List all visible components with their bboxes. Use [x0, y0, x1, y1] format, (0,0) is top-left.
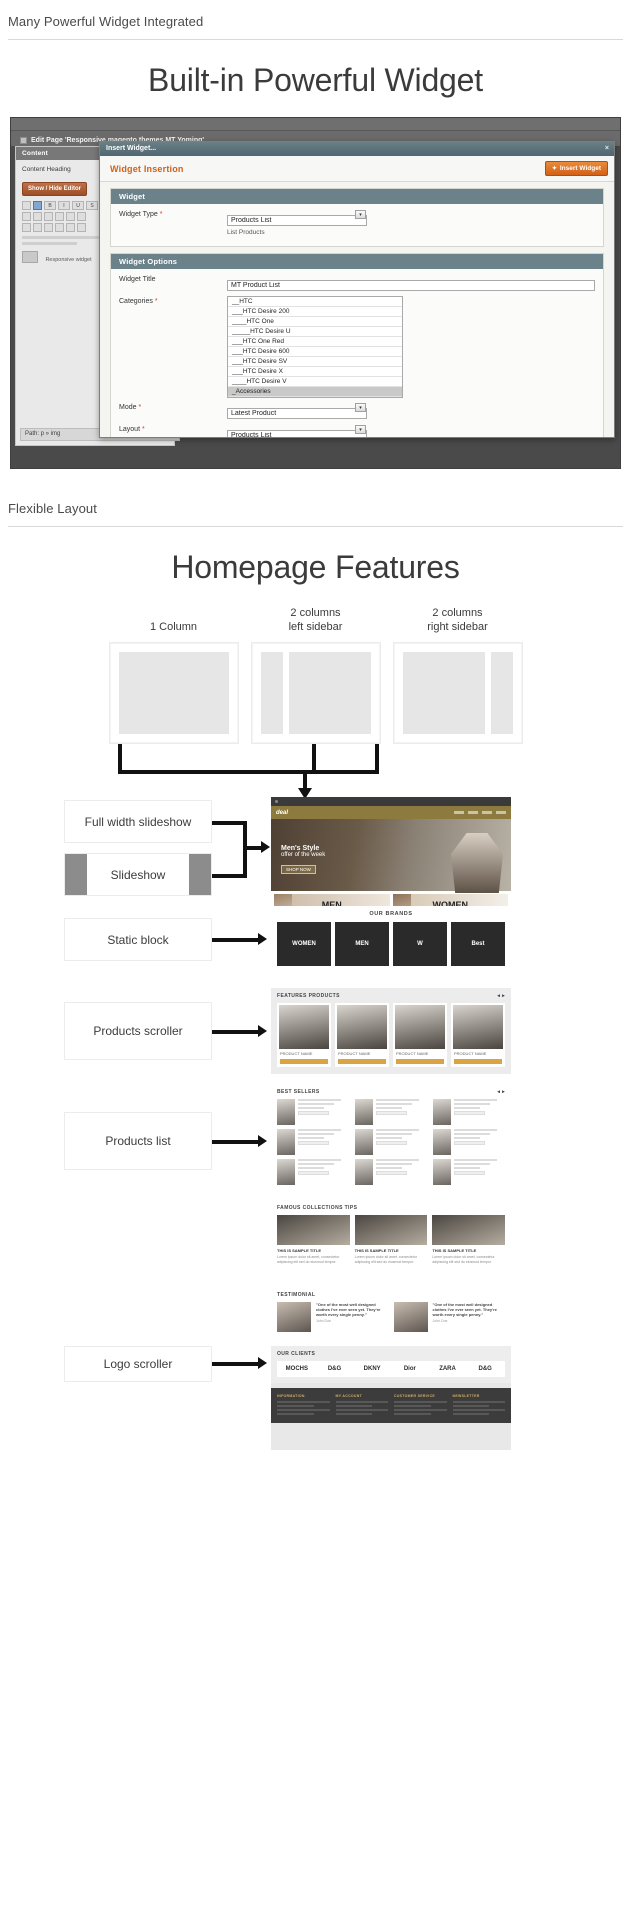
testimonial-block: TESTIMONIAL "One of the most well design…: [271, 1288, 511, 1338]
mode-value[interactable]: [227, 408, 367, 419]
layout-connector: [0, 744, 631, 800]
text-line: [376, 1099, 419, 1101]
anchor-icon[interactable]: [44, 223, 53, 232]
label-text: Mode: [119, 404, 137, 411]
field-control: __HTC ___HTC Desire 200 ____HTC One ____…: [227, 296, 595, 398]
connector-line-horizontal: [118, 770, 379, 774]
section-title-layout: Homepage Features: [0, 527, 631, 604]
layout-thumb-one-column: [109, 642, 239, 744]
collections-block: FAMOUS COLLECTIONS TIPS THIS IS SAMPLE T…: [271, 1200, 511, 1270]
feature-mapping-diagram: Full width slideshow Slideshow: [0, 800, 631, 1510]
chevron-down-icon[interactable]: ▾: [355, 425, 366, 434]
preview-footer: INFORMATION MY ACCOUNT: [271, 1388, 511, 1450]
client-logo[interactable]: Dior: [393, 1366, 427, 1372]
avatar: [394, 1302, 428, 1332]
mode-select[interactable]: ▾: [227, 402, 367, 420]
table-icon[interactable]: [55, 223, 64, 232]
widget-type-note: List Products: [227, 229, 595, 236]
product-card[interactable]: PRODUCT NAME: [277, 1003, 331, 1067]
feature-box-static-block[interactable]: Static block: [64, 918, 212, 961]
form-row-widget-title: Widget Title: [119, 274, 595, 292]
feature-box-logo-scroller[interactable]: Logo scroller: [64, 1346, 212, 1382]
client-logo[interactable]: DKNY: [355, 1366, 389, 1372]
footer-link[interactable]: [277, 1409, 330, 1411]
collections-heading: FAMOUS COLLECTIONS TIPS: [277, 1205, 505, 1215]
client-logo[interactable]: MOCHS: [280, 1366, 314, 1372]
feature-label: Full width slideshow: [85, 815, 192, 829]
footer-link[interactable]: [453, 1401, 506, 1403]
label-text: Widget Type: [119, 211, 158, 218]
section-layout: Flexible Layout Homepage Features 1 Colu…: [0, 487, 631, 1518]
required-marker: *: [155, 298, 158, 305]
footer-link[interactable]: [277, 1401, 330, 1403]
editor-caption: Responsive widget: [45, 257, 91, 263]
product-thumb: [433, 1099, 451, 1125]
footer-link[interactable]: [336, 1413, 373, 1415]
text-line: [298, 1159, 341, 1161]
footer-link[interactable]: [336, 1409, 389, 1411]
cart-button[interactable]: [454, 1141, 485, 1145]
fieldset-widget-options: Widget Options Widget Title: [110, 253, 604, 437]
product-info: [376, 1129, 427, 1155]
best-sellers-header: BEST SELLERS ◂ ▸: [277, 1089, 505, 1099]
best-sellers-block: BEST SELLERS ◂ ▸: [271, 1084, 511, 1193]
product-image: [337, 1005, 387, 1049]
field-control: ▾ List Products: [227, 209, 595, 236]
layout-select[interactable]: ▾: [227, 424, 367, 437]
label-text: Layout: [119, 426, 140, 433]
cart-button[interactable]: [454, 1111, 485, 1115]
layout-option-one-column[interactable]: 1 Column: [109, 604, 239, 744]
unlink-icon[interactable]: [33, 223, 42, 232]
collection-image: [355, 1215, 428, 1245]
text-line: [298, 1167, 324, 1169]
arrow-right-icon: [258, 933, 267, 945]
category-option[interactable]: __HTC: [228, 297, 402, 307]
section-header-layout: Flexible Layout: [0, 487, 631, 526]
list-item[interactable]: [433, 1159, 505, 1185]
content-block: [403, 652, 485, 734]
best-sellers-nav[interactable]: ◂ ▸: [497, 1089, 505, 1095]
footer-link[interactable]: [336, 1401, 389, 1403]
layout-caption: 2 columns left sidebar: [251, 604, 381, 634]
chevron-down-icon[interactable]: ▾: [355, 210, 366, 219]
collection-text: Lorem ipsum dolor sit amet, consectetur …: [355, 1255, 428, 1264]
text-line: [298, 1099, 341, 1101]
footer-link[interactable]: [277, 1413, 314, 1415]
footer-link[interactable]: [394, 1401, 447, 1403]
footer-column: INFORMATION: [277, 1394, 330, 1417]
preview-hero-slide: Men's Style offer of the week SHOP NOW: [271, 819, 511, 891]
cart-button[interactable]: [298, 1141, 329, 1145]
category-option[interactable]: _____HTC Desire U: [228, 327, 402, 337]
product-thumb: [277, 1099, 295, 1125]
align-left-icon[interactable]: [22, 212, 31, 221]
brand-card[interactable]: W: [393, 922, 447, 966]
text-line: [298, 1107, 324, 1109]
link-line: [212, 1030, 260, 1034]
collection-title: THIS IS SAMPLE TITLE: [355, 1248, 428, 1253]
product-thumb: [355, 1159, 373, 1185]
editor-text-line: [22, 236, 110, 239]
text-line: [376, 1163, 412, 1165]
text-line: [454, 1103, 490, 1105]
cart-button[interactable]: [376, 1141, 407, 1145]
close-icon[interactable]: ×: [605, 145, 609, 152]
cut-icon[interactable]: [22, 201, 31, 210]
feature-box-products-list[interactable]: Products list: [64, 1112, 212, 1170]
product-thumb: [277, 1129, 295, 1155]
testimonial-quote-wrap: "One of the most well designed clothes I…: [316, 1302, 389, 1323]
hero-subtitle: offer of the week: [281, 852, 325, 858]
modal-titlebar: Insert Widget... ×: [100, 142, 614, 156]
preview-brands: OUR BRANDS WOMEN MEN W: [271, 906, 511, 978]
link-icon[interactable]: [22, 223, 31, 232]
text-line: [376, 1159, 419, 1161]
collection-title: THIS IS SAMPLE TITLE: [432, 1248, 505, 1253]
collection-text: Lorem ipsum dolor sit amet, consectetur …: [432, 1255, 505, 1264]
list-item[interactable]: [277, 1099, 349, 1125]
text-line: [454, 1163, 490, 1165]
footer-link[interactable]: [277, 1405, 314, 1407]
insert-widget-button[interactable]: ✦ Insert Widget: [545, 161, 608, 176]
connector-line-down: [303, 770, 307, 790]
insert-icon: ✦: [552, 165, 557, 172]
align-justify-icon[interactable]: [55, 212, 64, 221]
fieldset-body: Widget Title Categories *: [111, 269, 603, 437]
testimonial-author: John Doe: [433, 1319, 506, 1323]
preview-hero: · deal: [271, 797, 511, 915]
client-logo[interactable]: D&G: [468, 1366, 502, 1372]
sidebar-shade-right: [189, 854, 211, 895]
feature-label: Products list: [65, 1134, 211, 1148]
list-item[interactable]: [277, 1129, 349, 1155]
layout-caption: 1 Column: [109, 604, 239, 634]
hero-cta-button[interactable]: SHOP NOW: [281, 865, 316, 874]
collection-text: Lorem ipsum dolor sit amet, consectetur …: [277, 1255, 350, 1264]
layout-caption-line2: left sidebar: [251, 620, 381, 634]
fieldset-body: Widget Type * ▾ List Products: [111, 204, 603, 246]
preview-logo: deal: [276, 810, 288, 816]
link-line: [212, 938, 260, 942]
avatar: [277, 1302, 311, 1332]
modal-heading: Widget Insertion: [110, 164, 184, 174]
product-info: [376, 1159, 427, 1185]
widget-type-select[interactable]: ▾: [227, 209, 367, 227]
category-option-selected[interactable]: _Accessories: [228, 387, 402, 397]
sidebar-shade-left: [65, 854, 87, 895]
preview-featured-products: FEATURES PRODUCTS ◂ ▸ PRODUCT NAME: [271, 988, 511, 1074]
cart-button[interactable]: [454, 1171, 485, 1175]
bold-icon[interactable]: B: [44, 201, 56, 210]
footer-link[interactable]: [394, 1405, 431, 1407]
product-name: PRODUCT NAME: [453, 1049, 503, 1057]
widget-placeholder-icon: [22, 251, 38, 263]
preview-testimonial: TESTIMONIAL "One of the most well design…: [271, 1288, 511, 1344]
category-option[interactable]: ___HTC One Red: [228, 337, 402, 347]
field-control: ▾: [227, 424, 595, 437]
insert-widget-label: Insert Widget: [560, 165, 601, 172]
brand-card[interactable]: MEN: [335, 922, 389, 966]
feature-label: Slideshow: [111, 868, 166, 882]
feature-box-full-width-slideshow[interactable]: Full width slideshow: [64, 800, 212, 843]
page-root: Many Powerful Widget Integrated Built-in…: [0, 0, 631, 1518]
preview-header: deal: [271, 806, 511, 819]
product-thumb: [433, 1129, 451, 1155]
collection-card[interactable]: THIS IS SAMPLE TITLE Lorem ipsum dolor s…: [277, 1215, 350, 1264]
label-text: Categories: [119, 298, 153, 305]
best-sellers-grid: [277, 1099, 505, 1185]
chevron-down-icon[interactable]: ▾: [355, 403, 366, 412]
testimonial-quote: "One of the most well designed clothes I…: [433, 1302, 506, 1317]
section-widgets: Many Powerful Widget Integrated Built-in…: [0, 0, 631, 469]
category-option[interactable]: ____HTC One: [228, 317, 402, 327]
sidebar-block: [491, 652, 513, 734]
layout-caption-line1: 2 columns: [251, 606, 381, 620]
product-name: PRODUCT NAME: [279, 1049, 329, 1057]
hero-model-image: [451, 833, 503, 893]
collections-row: THIS IS SAMPLE TITLE Lorem ipsum dolor s…: [277, 1215, 505, 1264]
product-image: [395, 1005, 445, 1049]
client-logo[interactable]: ZARA: [431, 1366, 465, 1372]
category-option[interactable]: ___HTC Desire SV: [228, 357, 402, 367]
preview-nav: [454, 811, 506, 814]
field-label: Layout *: [119, 424, 227, 433]
form-row-widget-type: Widget Type * ▾ List Products: [119, 209, 595, 236]
widget-title-input[interactable]: [227, 280, 595, 291]
hero-title: Men's Style: [281, 845, 325, 852]
image-icon[interactable]: [33, 201, 42, 210]
strikethrough-icon[interactable]: S: [86, 201, 98, 210]
link-line: [212, 821, 247, 825]
modal-title: Insert Widget...: [106, 145, 156, 152]
fieldset-legend: Widget: [111, 189, 603, 204]
cart-button[interactable]: [298, 1111, 329, 1115]
layout-value[interactable]: [227, 430, 367, 437]
text-line: [454, 1129, 497, 1131]
sidebar-block: [261, 652, 283, 734]
text-line: [376, 1137, 402, 1139]
feature-label: Logo scroller: [65, 1357, 211, 1371]
footer-column-title: CUSTOMER SERVICE: [394, 1394, 447, 1398]
insert-widget-modal: Insert Widget... × Widget Insertion ✦ In…: [99, 141, 615, 438]
feature-row-slideshow: Full width slideshow Slideshow: [8, 800, 623, 900]
field-control: [227, 274, 595, 292]
content-block: [119, 652, 229, 734]
list-item[interactable]: [433, 1099, 505, 1125]
add-to-cart-button[interactable]: [280, 1059, 328, 1064]
underline-icon[interactable]: U: [72, 201, 84, 210]
cart-button[interactable]: [298, 1171, 329, 1175]
preview-collections: FAMOUS COLLECTIONS TIPS THIS IS SAMPLE T…: [271, 1200, 511, 1286]
feature-row-products-list: Products list BEST SELLERS ◂ ▸: [8, 1084, 623, 1194]
layout-caption-text: 1 Column: [109, 620, 239, 634]
product-thumb: [277, 1159, 295, 1185]
brands-block: OUR BRANDS WOMEN MEN W: [271, 906, 511, 974]
product-info: [298, 1159, 349, 1185]
list-item[interactable]: [433, 1129, 505, 1155]
category-option[interactable]: ___HTC Desire X: [228, 367, 402, 377]
featured-products-row: PRODUCT NAME PRODUCT NAME: [277, 1003, 505, 1067]
product-card[interactable]: PRODUCT NAME: [393, 1003, 447, 1067]
product-card[interactable]: PRODUCT NAME: [451, 1003, 505, 1067]
form-row-layout: Layout * ▾: [119, 424, 595, 437]
arrow-right-icon: [261, 841, 270, 853]
testimonial-quote: "One of the most well designed clothes I…: [316, 1302, 389, 1317]
feature-row-products-scroller: Products scroller FEATURES PRODUCTS ◂ ▸: [8, 990, 623, 1076]
text-line: [298, 1137, 324, 1139]
text-line: [376, 1133, 412, 1135]
align-right-icon[interactable]: [44, 212, 53, 221]
featured-products-header: FEATURES PRODUCTS ◂ ▸: [277, 993, 505, 1003]
text-line: [298, 1163, 334, 1165]
text-line: [454, 1107, 480, 1109]
category-option[interactable]: ____HTC Desire V: [228, 377, 402, 387]
modal-body: Widget Widget Type * ▾: [100, 182, 614, 437]
product-name: PRODUCT NAME: [395, 1049, 445, 1057]
page-icon: [20, 137, 27, 144]
list-bullet-icon[interactable]: [66, 212, 75, 221]
featured-products-heading: FEATURES PRODUCTS: [277, 993, 340, 999]
field-label: Widget Type *: [119, 209, 227, 218]
brand-card[interactable]: WOMEN: [277, 922, 331, 966]
text-line: [298, 1133, 334, 1135]
preview-clients: OUR CLIENTS MOCHS D&G DKNY Dior ZARA D&G: [271, 1346, 511, 1388]
form-row-mode: Mode * ▾: [119, 402, 595, 420]
collection-image: [277, 1215, 350, 1245]
nav-item: [454, 811, 464, 814]
product-image: [279, 1005, 329, 1049]
required-marker: *: [138, 404, 141, 411]
feature-row-logo-scroller: FAMOUS COLLECTIONS TIPS THIS IS SAMPLE T…: [8, 1200, 623, 1500]
layout-option-right-sidebar[interactable]: 2 columns right sidebar: [393, 604, 523, 744]
preview-topbar: ·: [271, 797, 511, 806]
add-to-cart-button[interactable]: [454, 1059, 502, 1064]
editor-text-line: [22, 242, 77, 245]
footer-link[interactable]: [394, 1413, 431, 1415]
show-hide-editor-button[interactable]: Show / Hide Editor: [22, 182, 87, 196]
feature-label: Static block: [107, 933, 168, 947]
collection-image: [432, 1215, 505, 1245]
form-row-categories: Categories * __HTC ___HTC Desire 200 ___…: [119, 296, 595, 398]
category-option[interactable]: ___HTC Desire 600: [228, 347, 402, 357]
cart-button[interactable]: [376, 1111, 407, 1115]
footer-columns: INFORMATION MY ACCOUNT: [277, 1394, 505, 1417]
field-label: Widget Title: [119, 274, 227, 283]
footer-column-title: INFORMATION: [277, 1394, 330, 1398]
field-control: ▾: [227, 402, 595, 420]
clients-heading: OUR CLIENTS: [277, 1351, 505, 1361]
product-thumb: [433, 1159, 451, 1185]
feature-box-slideshow[interactable]: Slideshow: [64, 853, 212, 896]
product-info: [376, 1099, 427, 1125]
categories-multiselect[interactable]: __HTC ___HTC Desire 200 ____HTC One ____…: [227, 296, 403, 398]
nav-item: [468, 811, 478, 814]
widget-type-value[interactable]: [227, 215, 367, 226]
arrow-right-icon: [258, 1025, 267, 1037]
brand-name: WOMEN: [292, 941, 316, 948]
layout-thumb-right-sidebar: [393, 642, 523, 744]
link-line: [212, 1140, 260, 1144]
list-number-icon[interactable]: [77, 212, 86, 221]
required-marker: *: [160, 211, 163, 218]
topbar-dot: [275, 800, 278, 803]
footer-link[interactable]: [453, 1409, 506, 1411]
footer-column: CUSTOMER SERVICE: [394, 1394, 447, 1417]
text-line: [376, 1167, 402, 1169]
client-logo[interactable]: D&G: [318, 1366, 352, 1372]
list-item[interactable]: [277, 1159, 349, 1185]
collection-title: THIS IS SAMPLE TITLE: [277, 1248, 350, 1253]
layout-option-left-sidebar[interactable]: 2 columns left sidebar: [251, 604, 381, 744]
text-line: [376, 1103, 412, 1105]
brand-card[interactable]: Best: [451, 922, 505, 966]
add-to-cart-button[interactable]: [396, 1059, 444, 1064]
fieldset-legend: Widget Options: [111, 254, 603, 269]
collection-card[interactable]: THIS IS SAMPLE TITLE Lorem ipsum dolor s…: [355, 1215, 428, 1264]
text-line: [454, 1099, 497, 1101]
layout-caption: 2 columns right sidebar: [393, 604, 523, 634]
layout-options-row: 1 Column 2 columns left sidebar: [0, 604, 631, 744]
footer-link[interactable]: [394, 1409, 447, 1411]
brand-name: W: [417, 941, 423, 948]
hero-copy: Men's Style offer of the week SHOP NOW: [281, 845, 325, 876]
product-name: PRODUCT NAME: [337, 1049, 387, 1057]
footer-column: MY ACCOUNT: [336, 1394, 389, 1417]
footer-link[interactable]: [336, 1405, 373, 1407]
featured-products-block: FEATURES PRODUCTS ◂ ▸ PRODUCT NAME: [271, 988, 511, 1074]
brand-name: MEN: [355, 941, 368, 948]
product-image: [453, 1005, 503, 1049]
list-item[interactable]: [355, 1129, 427, 1155]
clients-row: MOCHS D&G DKNY Dior ZARA D&G: [277, 1361, 505, 1377]
arrow-right-icon: [258, 1357, 267, 1369]
content-block: [289, 652, 371, 734]
text-line: [454, 1137, 480, 1139]
arrow-right-icon: [258, 1135, 267, 1147]
text-line: [454, 1133, 490, 1135]
undo-icon[interactable]: [66, 223, 75, 232]
align-center-icon[interactable]: [33, 212, 42, 221]
feature-box-products-scroller[interactable]: Products scroller: [64, 1002, 212, 1060]
product-info: [298, 1099, 349, 1125]
italic-icon[interactable]: I: [58, 201, 70, 210]
footer-link[interactable]: [453, 1413, 490, 1415]
testimonial-row: "One of the most well designed clothes I…: [277, 1302, 505, 1332]
product-card[interactable]: PRODUCT NAME: [335, 1003, 389, 1067]
fieldset-widget: Widget Widget Type * ▾: [110, 188, 604, 247]
footer-link[interactable]: [453, 1405, 490, 1407]
cart-button[interactable]: [376, 1171, 407, 1175]
product-info: [454, 1099, 505, 1125]
redo-icon[interactable]: [77, 223, 86, 232]
field-label: Categories *: [119, 296, 227, 305]
list-item[interactable]: [355, 1159, 427, 1185]
collection-card[interactable]: THIS IS SAMPLE TITLE Lorem ipsum dolor s…: [432, 1215, 505, 1264]
layout-thumb-left-sidebar: [251, 642, 381, 744]
testimonial-heading: TESTIMONIAL: [277, 1292, 505, 1302]
add-to-cart-button[interactable]: [338, 1059, 386, 1064]
category-option[interactable]: ___HTC Desire 200: [228, 307, 402, 317]
feature-row-static-block: Static block OUR BRANDS WOMEN: [8, 906, 623, 982]
product-info: [454, 1129, 505, 1155]
scroller-nav[interactable]: ◂ ▸: [497, 993, 505, 999]
footer-column: NEWSLETTER: [453, 1394, 506, 1417]
footer-column-title: MY ACCOUNT: [336, 1394, 389, 1398]
text-line: [376, 1107, 402, 1109]
list-item[interactable]: [355, 1099, 427, 1125]
footer-block: INFORMATION MY ACCOUNT: [271, 1388, 511, 1423]
